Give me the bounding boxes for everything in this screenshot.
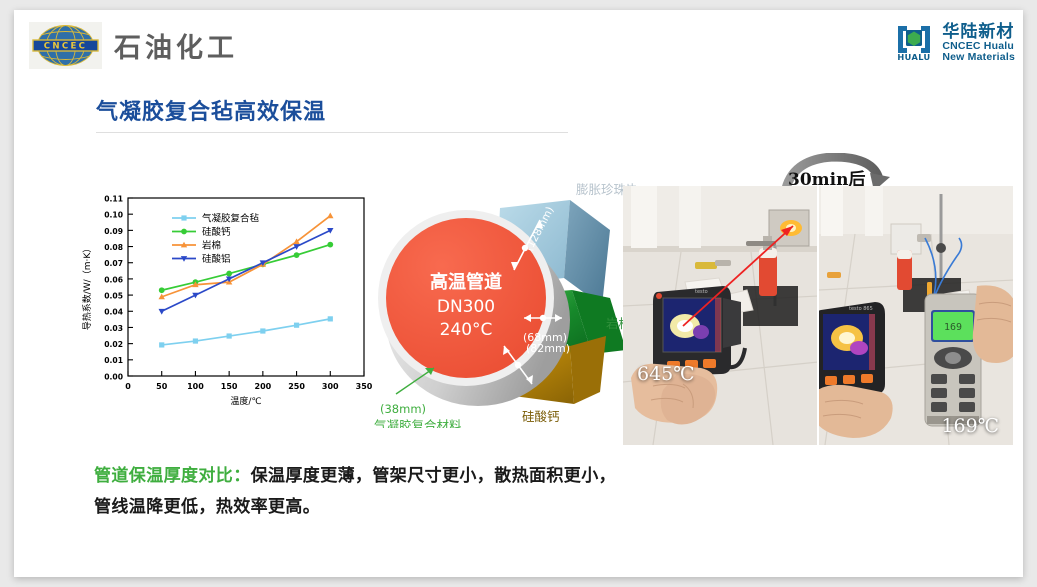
data-point: [260, 328, 265, 333]
calcium-label: 硅酸钙: [522, 409, 560, 424]
x-axis-label: 温度/℃: [230, 395, 261, 407]
data-point: [227, 333, 232, 338]
y-tick-label: 0.08: [104, 243, 123, 252]
hualu-logo-icon: HUALU: [893, 22, 935, 64]
y-tick-label: 0.01: [104, 356, 123, 365]
chart-svg: 0.000.010.020.030.040.050.060.070.080.09…: [76, 188, 372, 420]
photo-before: testo 645℃: [623, 186, 819, 445]
y-tick-label: 0.07: [104, 259, 123, 268]
summary-caption: 管道保温厚度对比：保温厚度更薄，管架尺寸更小，散热面积更小，管线温降更低，热效率…: [94, 460, 624, 523]
x-tick-label: 50: [156, 382, 168, 391]
thermal-conductivity-chart: 0.000.010.020.030.040.050.060.070.080.09…: [76, 188, 372, 420]
y-tick-label: 0.06: [104, 275, 123, 284]
temperature-after: 169℃: [941, 415, 999, 437]
x-tick-label: 300: [322, 382, 339, 391]
hualu-wordmark: 华陆新材 CNCEC Hualu New Materials: [942, 23, 1015, 63]
slide: CNCEC 石油化工 HUALU 华陆新材 CNCEC Hualu New Ma…: [14, 10, 1023, 577]
x-tick-label: 250: [288, 382, 305, 391]
x-tick-label: 0: [125, 382, 131, 391]
title-divider: [96, 132, 568, 133]
svg-text:169: 169: [944, 322, 962, 333]
svg-text:testo 865: testo 865: [849, 306, 873, 312]
thermal-test-photos: testo 645℃: [623, 186, 1013, 445]
y-axis-label: 导热系数/W/（m·K）: [81, 244, 93, 331]
header-left: CNCEC 石油化工: [29, 22, 238, 69]
legend-label: 气凝胶复合毡: [202, 213, 260, 225]
x-tick-label: 350: [356, 382, 372, 391]
data-point: [226, 271, 232, 277]
page-title: 气凝胶复合毡高效保温: [96, 94, 326, 126]
data-point: [327, 242, 333, 248]
x-tick-label: 200: [255, 382, 272, 391]
hualu-name-en-2: New Materials: [942, 52, 1015, 63]
legend-label: 硅酸铝: [202, 253, 231, 265]
data-point: [159, 342, 164, 347]
pipe-label-line3: 240°C: [440, 320, 493, 340]
y-tick-label: 0.00: [104, 372, 123, 381]
svg-text:CNCEC: CNCEC: [44, 42, 87, 52]
legend-label: 岩棉: [202, 240, 221, 252]
x-tick-label: 100: [187, 382, 204, 391]
pipe-insulation-diagram: 高温管道 DN300 240°C (128mm) 膨胀珍珠岩 (68mm) 岩棉: [374, 178, 636, 428]
y-tick-label: 0.04: [104, 308, 123, 317]
y-tick-label: 0.10: [104, 211, 123, 220]
x-tick-label: 150: [221, 382, 238, 391]
data-point: [159, 287, 165, 293]
y-tick-label: 0.09: [104, 227, 123, 236]
y-tick-label: 0.05: [104, 291, 123, 300]
data-point: [193, 338, 198, 343]
aerogel-thickness: (38mm): [380, 402, 426, 416]
calcium-thickness: (82mm): [526, 342, 570, 355]
temperature-before: 645℃: [637, 363, 695, 385]
photo-after: testo 865 169: [819, 186, 1013, 445]
caption-highlight: 管道保温厚度对比：: [94, 466, 251, 485]
cncec-globe-logo: CNCEC: [29, 22, 102, 69]
svg-text:HUALU: HUALU: [898, 52, 931, 62]
pipe-label-line2: DN300: [437, 297, 495, 317]
y-tick-label: 0.03: [104, 324, 123, 333]
y-tick-label: 0.11: [104, 194, 123, 203]
data-point: [328, 316, 333, 321]
data-point: [294, 323, 299, 328]
aerogel-label: 气凝胶复合材料: [374, 418, 462, 428]
company-name-cn: 石油化工: [114, 26, 238, 65]
data-point: [294, 252, 300, 258]
hualu-name-cn: 华陆新材: [942, 23, 1015, 41]
pipe-label-line1: 高温管道: [430, 271, 502, 293]
y-tick-label: 0.02: [104, 340, 123, 349]
header-right: HUALU 华陆新材 CNCEC Hualu New Materials: [893, 22, 1015, 64]
legend-label: 硅酸钙: [202, 226, 231, 238]
svg-text:testo: testo: [695, 289, 708, 295]
